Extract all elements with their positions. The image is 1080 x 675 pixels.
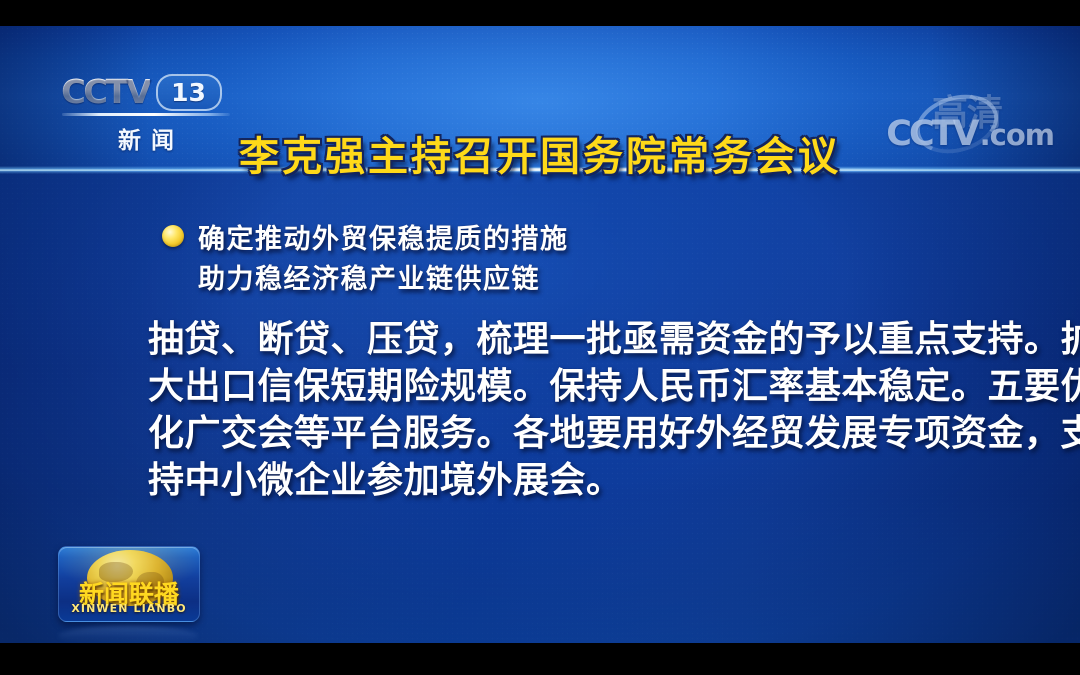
subtitle-text: 确定推动外贸保稳提质的措施 xyxy=(198,217,569,256)
video-frame: CCTV 13 新闻 高清 CCTV .com 李克强主持召开国务院常务会议 确… xyxy=(0,26,1080,643)
channel-logo-underline xyxy=(62,113,230,116)
program-bug-pinyin: XINWEN LIANBO xyxy=(59,602,199,615)
letterbox-top xyxy=(0,0,1080,26)
subtitle-block: 确定推动外贸保稳提质的措施 助力稳经济稳产业链供应链 xyxy=(162,216,992,296)
channel-number-badge: 13 xyxy=(156,74,222,111)
subtitle-line: 助力稳经济稳产业链供应链 xyxy=(162,256,992,296)
channel-logo-row: CCTV 13 xyxy=(62,74,232,110)
body-line: 大出口信保短期险规模。保持人民币汇率基本稳定。五要优 xyxy=(148,363,960,410)
body-line: 持中小微企业参加境外展会。 xyxy=(148,457,960,504)
channel-logo-wordmark: CCTV xyxy=(61,75,149,109)
subtitle-line: 确定推动外贸保稳提质的措施 xyxy=(162,216,992,256)
body-line: 化广交会等平台服务。各地要用好外经贸发展专项资金，支 xyxy=(148,410,960,457)
broadcast-screen: CCTV 13 新闻 高清 CCTV .com 李克强主持召开国务院常务会议 确… xyxy=(0,0,1080,675)
body-line: 抽贷、断贷、压贷，梳理一批亟需资金的予以重点支持。扩 xyxy=(148,316,960,363)
body-paragraph: 抽贷、断贷、压贷，梳理一批亟需资金的予以重点支持。扩 大出口信保短期险规模。保持… xyxy=(148,316,960,504)
program-bug-xinwen-lianbo: 新闻联播 XINWEN LIANBO xyxy=(58,546,200,622)
bullet-dot-icon xyxy=(162,225,184,247)
letterbox-bottom xyxy=(0,643,1080,675)
program-bug-reflection xyxy=(58,626,198,643)
page-title: 李克强主持召开国务院常务会议 xyxy=(0,124,1080,182)
subtitle-text: 助力稳经济稳产业链供应链 xyxy=(198,257,540,296)
